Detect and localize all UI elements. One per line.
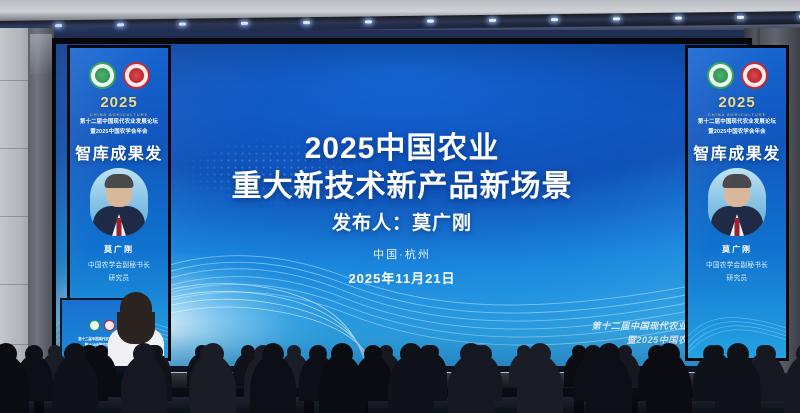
audience-head bbox=[400, 343, 422, 365]
audience-person bbox=[646, 355, 692, 413]
audience-head bbox=[262, 343, 284, 365]
audience-head bbox=[658, 343, 680, 365]
audience-head bbox=[727, 343, 749, 365]
audience-head bbox=[460, 343, 482, 365]
audience-head bbox=[703, 345, 721, 363]
right-poster-panel: 2025 CHINA AGRICULTURE 第十二届中国现代农业发展论坛 暨2… bbox=[688, 48, 786, 358]
audience-head bbox=[598, 343, 620, 365]
audience-head bbox=[133, 343, 155, 365]
audience-person bbox=[517, 355, 563, 413]
audience-head bbox=[64, 343, 86, 365]
audience-head bbox=[758, 345, 776, 363]
audience-head bbox=[529, 343, 551, 365]
audience-head bbox=[241, 345, 255, 359]
audience-head bbox=[364, 345, 382, 363]
audience-head bbox=[202, 343, 224, 365]
audience-head bbox=[48, 345, 62, 359]
conference-stage-photo: 2025中国农业 重大新技术新产品新场景 发布人：莫广刚 中国·杭州 2025年… bbox=[0, 0, 800, 413]
audience-head bbox=[25, 345, 43, 363]
audience-area bbox=[0, 330, 800, 413]
audience-person bbox=[190, 355, 236, 413]
audience-head bbox=[287, 345, 301, 359]
audience-person bbox=[784, 355, 800, 413]
audience-head bbox=[618, 345, 632, 359]
audience-head bbox=[796, 343, 800, 365]
audience-head bbox=[331, 343, 353, 365]
audience-head bbox=[0, 343, 17, 365]
audience-head bbox=[309, 345, 327, 363]
